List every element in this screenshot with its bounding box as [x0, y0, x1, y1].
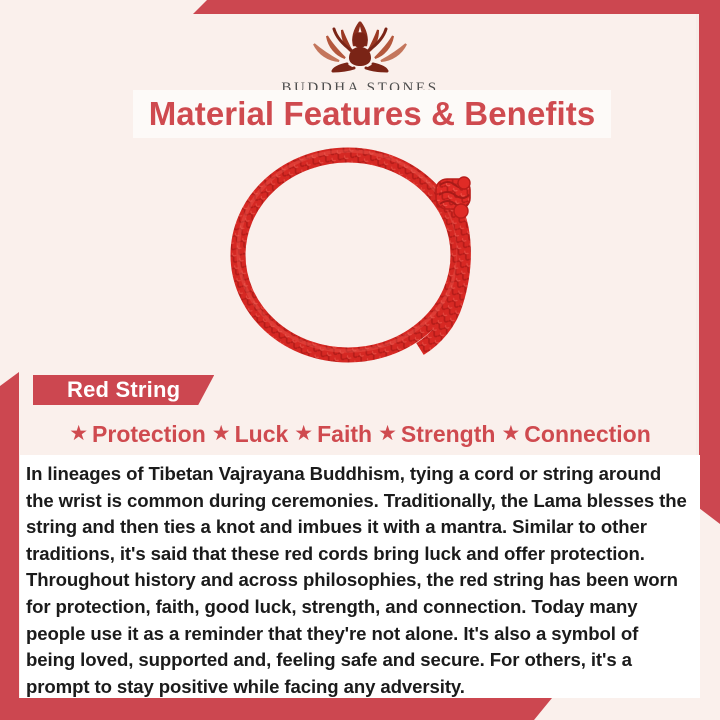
star-icon: ★: [378, 423, 397, 444]
page-title: Material Features & Benefits: [149, 95, 596, 133]
product-infographic: BUDDHA STONES Material Features & Benefi…: [0, 0, 720, 720]
red-braided-cord-bracelet-icon: [0, 145, 720, 370]
benefit-item-luck: ★ Luck: [212, 421, 289, 448]
benefit-item-protection: ★ Protection: [69, 421, 206, 448]
star-icon: ★: [69, 423, 88, 444]
left-accent-band: [0, 372, 19, 720]
description-panel: In lineages of Tibetan Vajrayana Buddhis…: [20, 455, 700, 698]
benefit-label: Protection: [92, 421, 206, 448]
bottom-accent-band: [0, 698, 552, 720]
benefit-item-faith: ★ Faith: [294, 421, 372, 448]
lotus-meditation-figure-icon: [0, 16, 720, 78]
product-name-label: Red String: [67, 377, 180, 403]
benefit-label: Luck: [235, 421, 289, 448]
benefit-label: Connection: [524, 421, 651, 448]
star-icon: ★: [294, 423, 313, 444]
product-name-ribbon: Red String: [33, 375, 214, 405]
benefit-label: Strength: [401, 421, 496, 448]
headline-banner: Material Features & Benefits: [133, 90, 611, 138]
benefits-list: ★ Protection ★ Luck ★ Faith ★ Strength ★…: [20, 421, 700, 448]
star-icon: ★: [501, 423, 520, 444]
description-text: In lineages of Tibetan Vajrayana Buddhis…: [26, 461, 688, 700]
benefit-item-strength: ★ Strength: [378, 421, 495, 448]
benefit-label: Faith: [317, 421, 372, 448]
star-icon: ★: [212, 423, 231, 444]
top-accent-band: [193, 0, 720, 14]
hero-product-image: [0, 145, 720, 370]
brand-logo: BUDDHA STONES: [0, 16, 720, 97]
benefit-item-connection: ★ Connection: [501, 421, 650, 448]
